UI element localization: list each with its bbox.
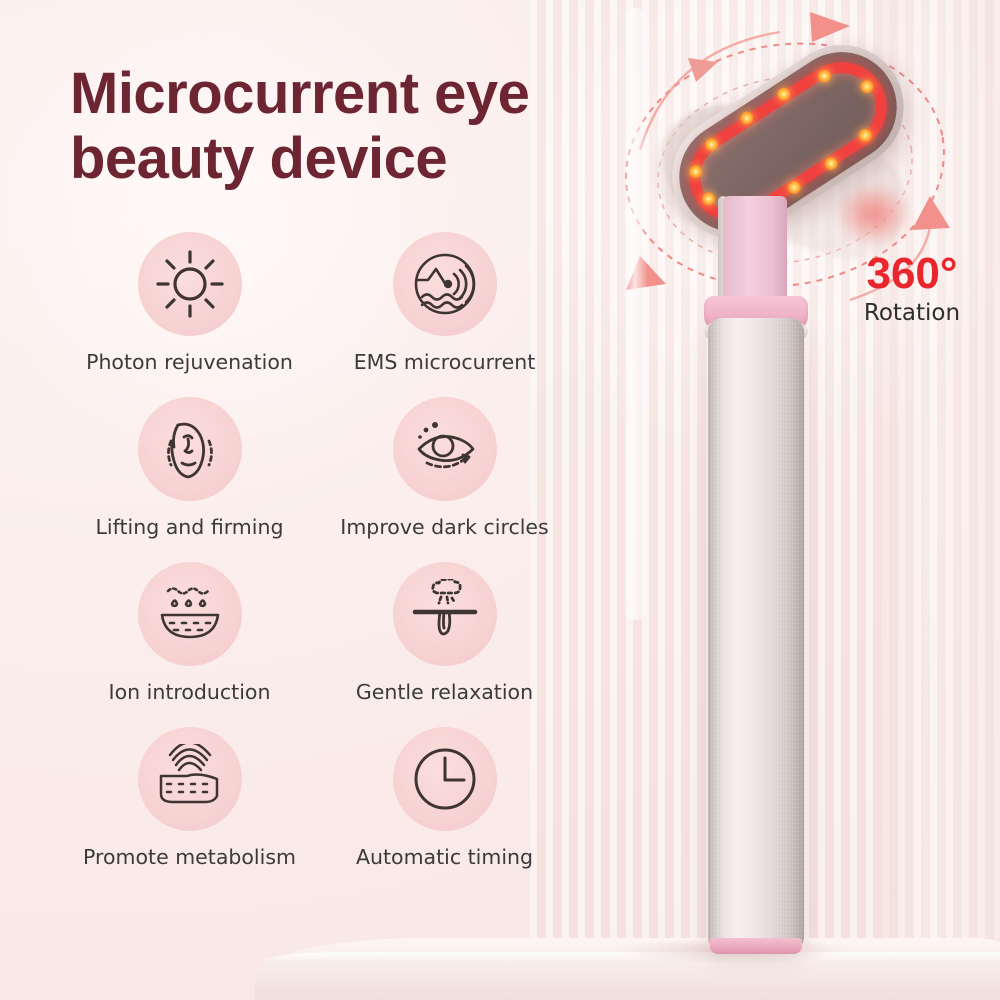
product-device: 360° Rotation xyxy=(600,0,1000,1000)
feature-row: Photon rejuvenation EMS microcurr xyxy=(62,232,572,374)
feature-label: Promote metabolism xyxy=(83,845,296,869)
sun-icon xyxy=(138,232,242,336)
pore-steam-icon xyxy=(393,562,497,666)
device-base xyxy=(710,938,802,954)
feature-item-promote-metabolism[interactable]: Promote metabolism xyxy=(62,727,317,869)
feature-row: Ion introduction Gentle relaxation xyxy=(62,562,572,704)
feature-item-gentle-relaxation[interactable]: Gentle relaxation xyxy=(317,562,572,704)
feature-item-automatic-timing[interactable]: Automatic timing xyxy=(317,727,572,869)
feature-item-ems-microcurrent[interactable]: EMS microcurrent xyxy=(317,232,572,374)
feature-label: Improve dark circles xyxy=(340,515,548,539)
feature-label: Gentle relaxation xyxy=(356,680,533,704)
feature-label: Automatic timing xyxy=(356,845,533,869)
product-marketing-image: Microcurrent eye beauty device xyxy=(0,0,1000,1000)
feature-row: Promote metabolism Automatic timing xyxy=(62,727,572,869)
feature-item-ion-introduction[interactable]: Ion introduction xyxy=(62,562,317,704)
rotation-caption: Rotation xyxy=(842,300,982,326)
water-drops-skin-icon xyxy=(138,562,242,666)
skin-waves-icon xyxy=(138,727,242,831)
rotation-value: 360° xyxy=(842,252,982,296)
feature-label: Ion introduction xyxy=(109,680,271,704)
feature-label: Lifting and firming xyxy=(96,515,284,539)
feature-label: Photon rejuvenation xyxy=(86,350,293,374)
ems-wave-icon xyxy=(393,232,497,336)
feature-item-lifting-and-firming[interactable]: Lifting and firming xyxy=(62,397,317,539)
feature-item-photon-rejuvenation[interactable]: Photon rejuvenation xyxy=(62,232,317,374)
feature-row: Lifting and firming Improve dark circles xyxy=(62,397,572,539)
eye-icon xyxy=(393,397,497,501)
feature-item-improve-dark-circles[interactable]: Improve dark circles xyxy=(317,397,572,539)
page-title: Microcurrent eye beauty device xyxy=(70,62,670,192)
device-handle xyxy=(708,318,804,948)
feature-grid: Photon rejuvenation EMS microcurr xyxy=(62,232,572,869)
handle-texture xyxy=(708,318,804,948)
clock-icon xyxy=(393,727,497,831)
feature-label: EMS microcurrent xyxy=(354,350,536,374)
handle-highlight xyxy=(622,8,648,620)
rotation-badge: 360° Rotation xyxy=(842,252,982,326)
face-profile-icon xyxy=(138,397,242,501)
